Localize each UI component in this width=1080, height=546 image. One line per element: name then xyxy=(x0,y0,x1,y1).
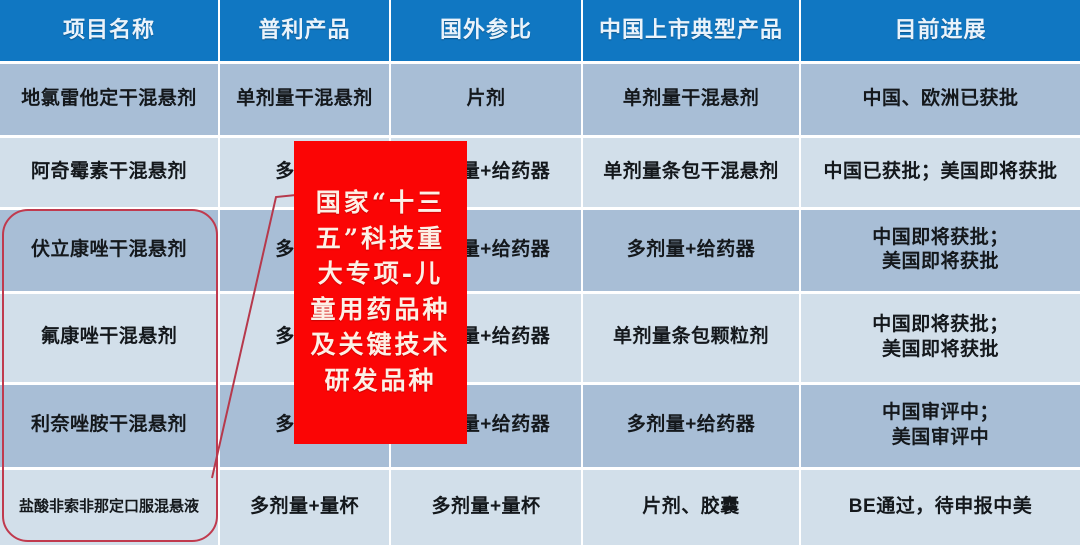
status-line-2: 美国审评中 xyxy=(805,426,1076,450)
table-header: 项目名称 普利产品 国外参比 中国上市典型产品 目前进展 xyxy=(0,0,1080,62)
status-line-1: BE通过，待申报中美 xyxy=(805,495,1076,519)
status-line-2: 美国即将获批 xyxy=(805,338,1076,362)
table-body: 地氯雷他定干混悬剂 单剂量干混悬剂 片剂 单剂量干混悬剂 中国、欧洲已获批 阿奇… xyxy=(0,62,1080,546)
cell-current-status: BE通过，待申报中美 xyxy=(800,468,1080,546)
column-header-china-product: 中国上市典型产品 xyxy=(582,0,800,62)
cell-china-product: 多剂量+给药器 xyxy=(582,208,800,292)
cell-overseas-ref: 片剂 xyxy=(390,62,582,136)
cell-puli-product: 多剂量+量杯 xyxy=(219,468,390,546)
column-header-project-name: 项目名称 xyxy=(0,0,219,62)
cell-china-product: 单剂量条包颗粒剂 xyxy=(582,292,800,383)
status-line-1: 中国审评中； xyxy=(805,401,1076,425)
column-header-current-status: 目前进展 xyxy=(800,0,1080,62)
cell-project-name: 伏立康唑干混悬剂 xyxy=(0,208,219,292)
red-callout-box: 国家“十三五”科技重大专项-儿童用药品种及关键技术研发品种 xyxy=(294,141,467,444)
cell-project-name: 利奈唑胺干混悬剂 xyxy=(0,383,219,468)
red-callout-text: 国家“十三五”科技重大专项-儿童用药品种及关键技术研发品种 xyxy=(304,185,457,398)
column-header-puli-product: 普利产品 xyxy=(219,0,390,62)
cell-china-product: 单剂量条包干混悬剂 xyxy=(582,136,800,208)
header-row: 项目名称 普利产品 国外参比 中国上市典型产品 目前进展 xyxy=(0,0,1080,62)
table-row: 伏立康唑干混悬剂 多剂量 多剂量+给药器 多剂量+给药器 中国即将获批； 美国即… xyxy=(0,208,1080,292)
cell-overseas-ref: 多剂量+量杯 xyxy=(390,468,582,546)
cell-project-name: 氟康唑干混悬剂 xyxy=(0,292,219,383)
cell-current-status: 中国审评中； 美国审评中 xyxy=(800,383,1080,468)
status-line-1: 中国即将获批； xyxy=(805,226,1076,250)
cell-current-status: 中国、欧洲已获批 xyxy=(800,62,1080,136)
cell-current-status: 中国已获批；美国即将获批 xyxy=(800,136,1080,208)
status-line-1: 中国已获批；美国即将获批 xyxy=(805,160,1076,184)
cell-china-product: 片剂、胶囊 xyxy=(582,468,800,546)
cell-project-name: 阿奇霉素干混悬剂 xyxy=(0,136,219,208)
status-line-1: 中国即将获批； xyxy=(805,313,1076,337)
cell-china-product: 单剂量干混悬剂 xyxy=(582,62,800,136)
cell-project-name: 地氯雷他定干混悬剂 xyxy=(0,62,219,136)
cell-puli-product: 单剂量干混悬剂 xyxy=(219,62,390,136)
product-pipeline-table: 项目名称 普利产品 国外参比 中国上市典型产品 目前进展 地氯雷他定干混悬剂 单… xyxy=(0,0,1080,546)
table-row: 阿奇霉素干混悬剂 多剂量 多剂量+给药器 单剂量条包干混悬剂 中国已获批；美国即… xyxy=(0,136,1080,208)
cell-project-name: 盐酸非索非那定口服混悬液 xyxy=(0,468,219,546)
table-row: 地氯雷他定干混悬剂 单剂量干混悬剂 片剂 单剂量干混悬剂 中国、欧洲已获批 xyxy=(0,62,1080,136)
cell-current-status: 中国即将获批； 美国即将获批 xyxy=(800,292,1080,383)
table-row: 利奈唑胺干混悬剂 多剂量 多剂量+给药器 多剂量+给药器 中国审评中； 美国审评… xyxy=(0,383,1080,468)
slide-root: 项目名称 普利产品 国外参比 中国上市典型产品 目前进展 地氯雷他定干混悬剂 单… xyxy=(0,0,1080,546)
status-line-2: 美国即将获批 xyxy=(805,250,1076,274)
status-line-1: 中国、欧洲已获批 xyxy=(805,87,1076,111)
table-row: 盐酸非索非那定口服混悬液 多剂量+量杯 多剂量+量杯 片剂、胶囊 BE通过，待申… xyxy=(0,468,1080,546)
cell-current-status: 中国即将获批； 美国即将获批 xyxy=(800,208,1080,292)
column-header-overseas-ref: 国外参比 xyxy=(390,0,582,62)
table-row: 氟康唑干混悬剂 多剂量 多剂量+给药器 单剂量条包颗粒剂 中国即将获批； 美国即… xyxy=(0,292,1080,383)
cell-china-product: 多剂量+给药器 xyxy=(582,383,800,468)
